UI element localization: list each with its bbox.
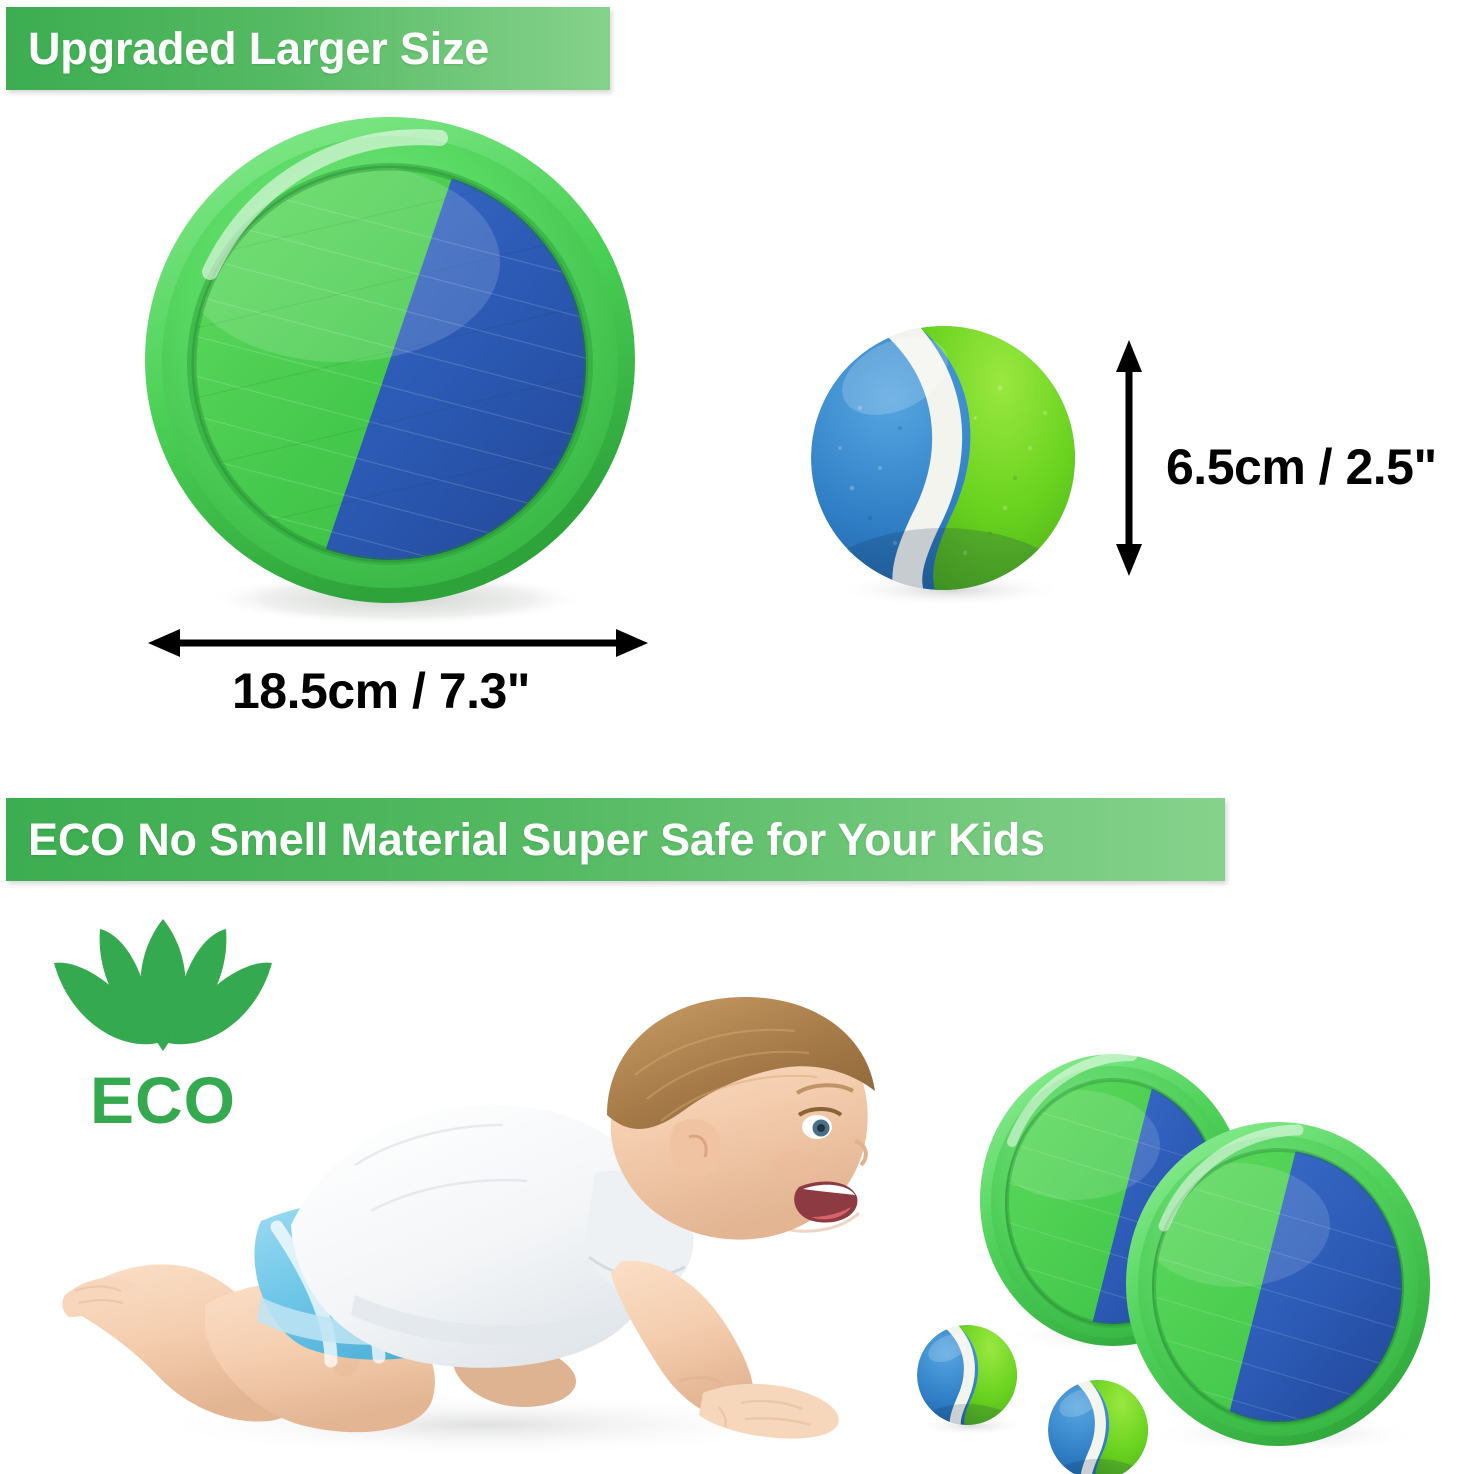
headline-banner-eco-material: ECO No Smell Material Super Safe for You… bbox=[6, 798, 1225, 881]
headline-banner-upgraded-size: Upgraded Larger Size bbox=[6, 7, 610, 90]
ball-small-right bbox=[1040, 1375, 1161, 1474]
baby-crawling-photo bbox=[55, 925, 885, 1470]
headline-banner-mid-text: ECO No Smell Material Super Safe for You… bbox=[6, 814, 1045, 866]
baby-ear bbox=[670, 1119, 721, 1177]
ball-main-image bbox=[800, 318, 1090, 606]
product-infographic: Upgraded Larger Size bbox=[0, 0, 1463, 1474]
paddle-width-label: 18.5cm / 7.3" bbox=[232, 662, 530, 720]
ball-height-label: 6.5cm / 2.5" bbox=[1166, 438, 1437, 496]
paddle-main-image bbox=[140, 112, 640, 624]
ball-body bbox=[793, 308, 1100, 708]
double-arrow-vertical-icon bbox=[1110, 340, 1148, 576]
ball-small-left bbox=[909, 1320, 1030, 1472]
paddle-front bbox=[1126, 1122, 1430, 1455]
headline-banner-top-text: Upgraded Larger Size bbox=[6, 23, 489, 75]
double-arrow-horizontal-icon bbox=[148, 626, 648, 660]
product-set-photo bbox=[900, 1030, 1463, 1474]
